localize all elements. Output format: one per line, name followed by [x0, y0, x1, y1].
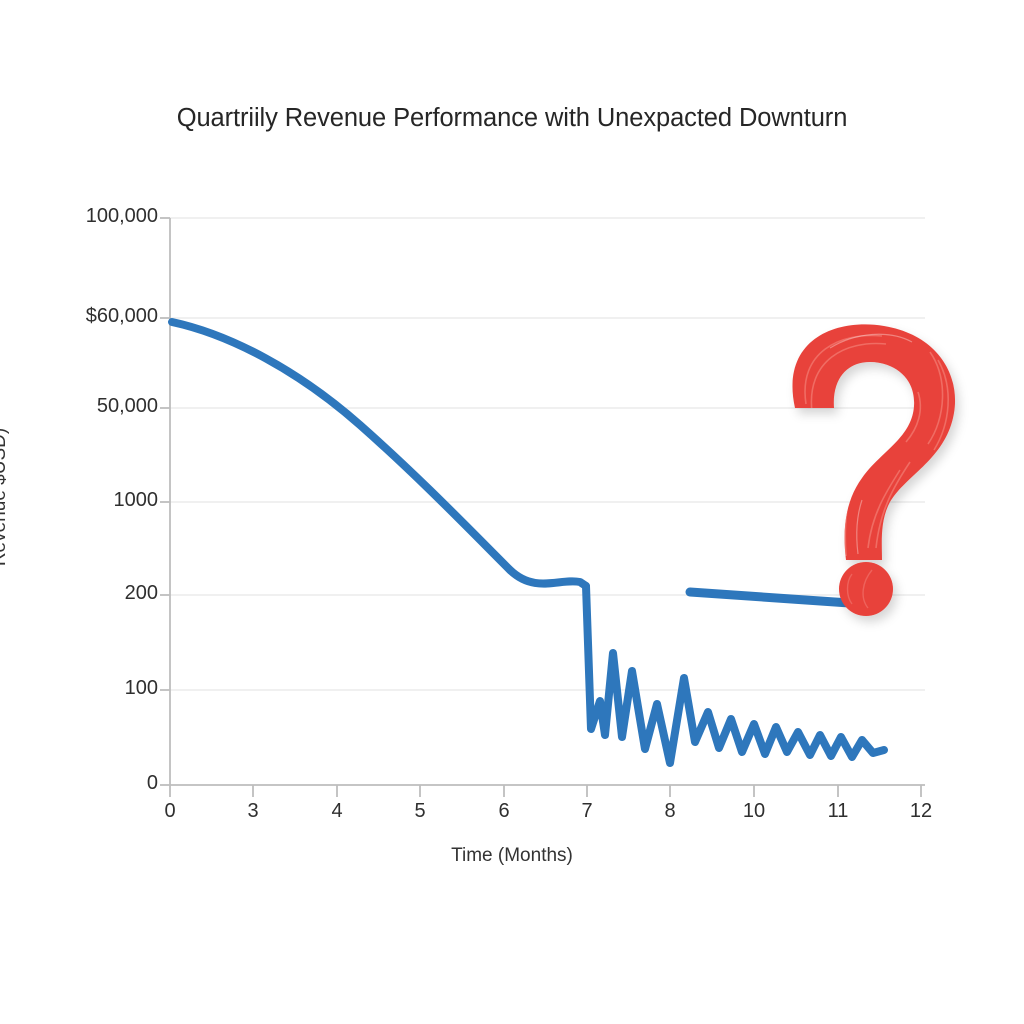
y-tick-label-100: 100 — [28, 677, 158, 700]
series-line-volatile-tail — [586, 586, 884, 763]
x-tick-label-12: 12 — [891, 800, 951, 823]
x-tick-label-8: 8 — [640, 800, 700, 823]
grid-lines — [170, 218, 925, 690]
x-tick-label-7: 7 — [557, 800, 617, 823]
x-tick-label-5: 5 — [390, 800, 450, 823]
question-mark-icon — [792, 324, 955, 616]
x-tick-label-4: 4 — [307, 800, 367, 823]
y-tick-label-50000: 50,000 — [28, 395, 158, 418]
y-tick-label-1000: 1000 — [28, 489, 158, 512]
x-tick-label-6: 6 — [474, 800, 534, 823]
y-tick-marks — [160, 218, 170, 785]
x-tick-label-0: 0 — [140, 800, 200, 823]
chart-figure: Quartriily Revenue Performance with Unex… — [0, 0, 1024, 1024]
y-tick-label-100000: 100,000 — [28, 205, 158, 228]
y-tick-label-0: 0 — [28, 772, 158, 795]
x-tick-label-3: 3 — [223, 800, 283, 823]
x-tick-label-10: 10 — [724, 800, 784, 823]
series-line-revenue — [172, 322, 586, 586]
y-tick-label-200: 200 — [28, 582, 158, 605]
x-tick-label-11: 11 — [808, 800, 868, 823]
series-line-detached-segment — [690, 592, 864, 604]
y-tick-label-60000: $60,000 — [28, 305, 158, 328]
x-tick-marks — [170, 785, 921, 797]
y-tick-labels: 100,000 $60,000 50,000 1000 200 100 0 — [0, 0, 158, 1024]
